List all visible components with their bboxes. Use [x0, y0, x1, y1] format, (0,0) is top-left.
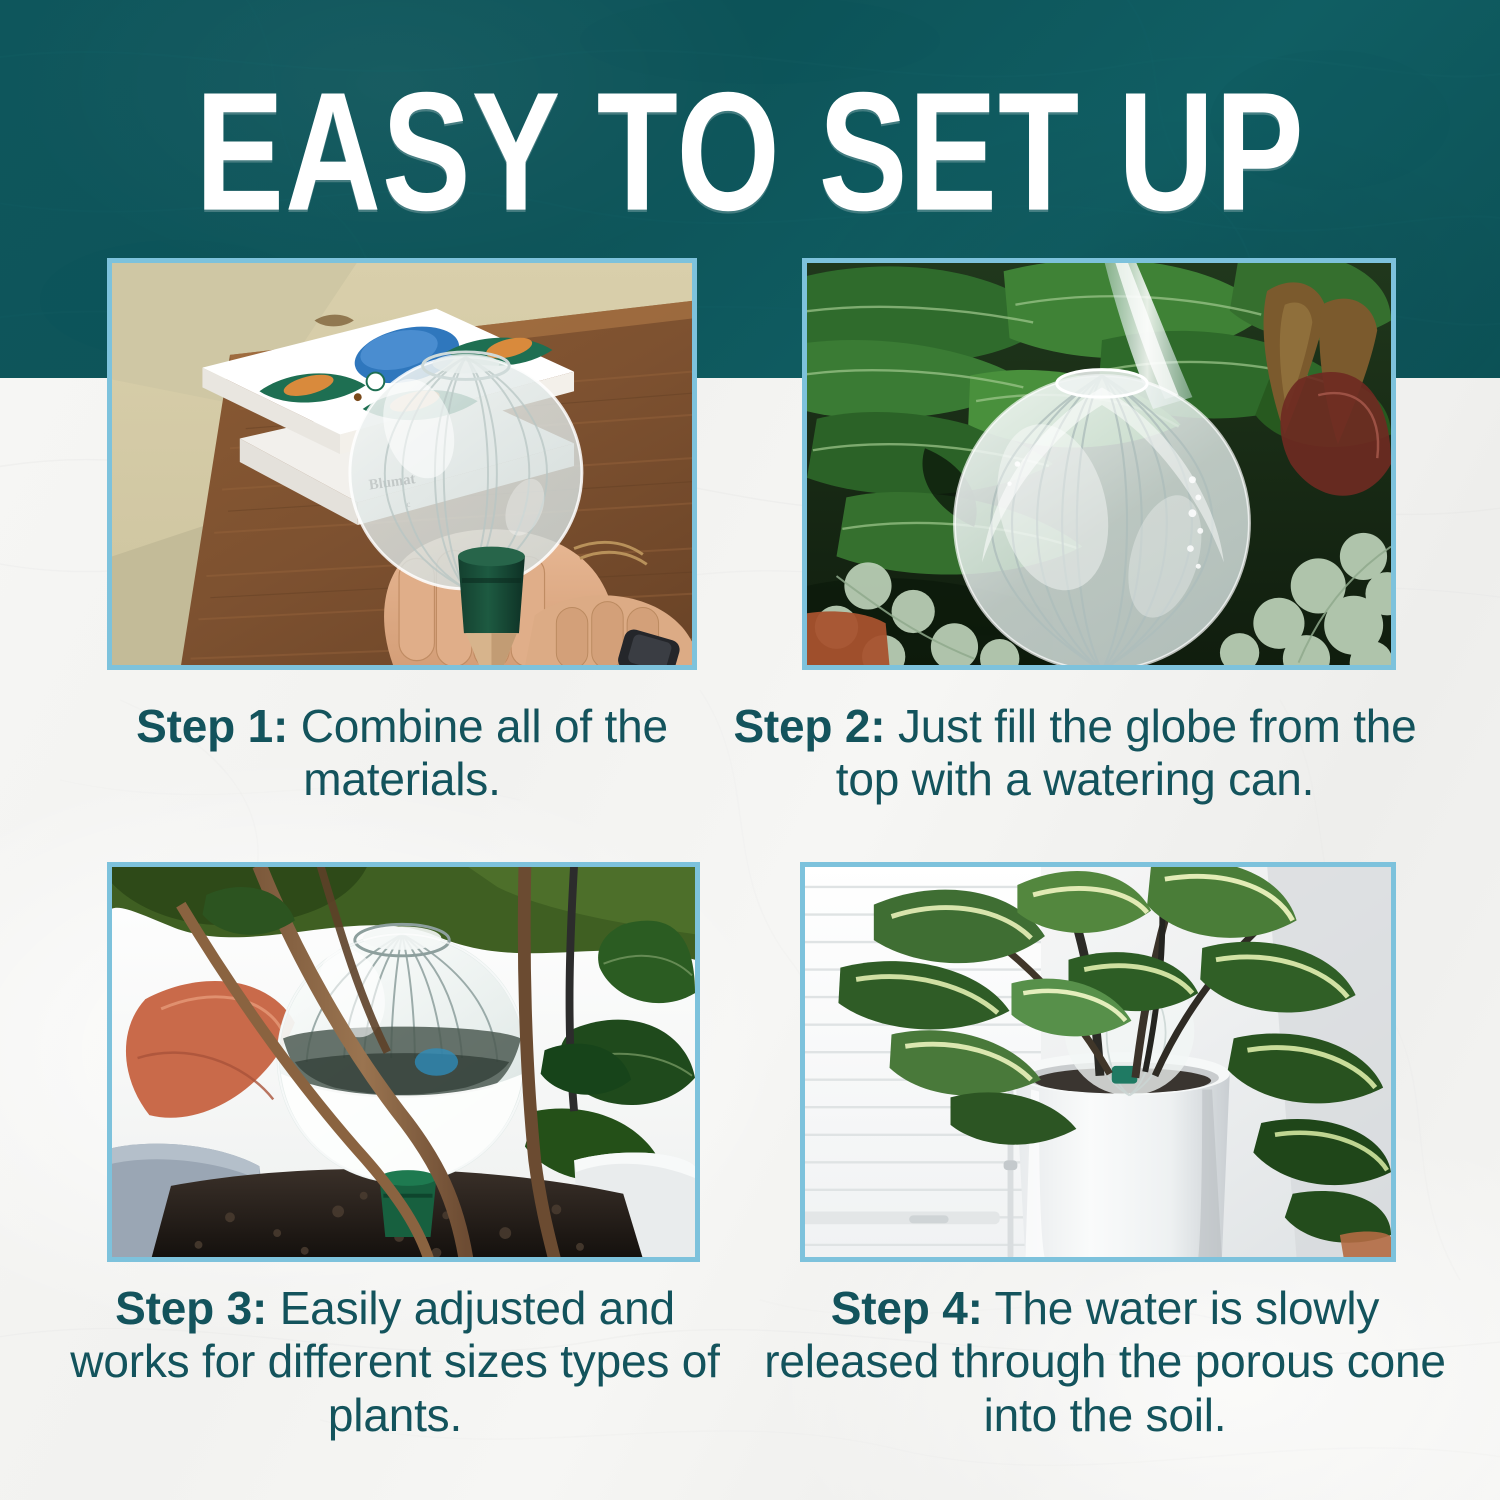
step-4-label: Step 4:: [831, 1282, 983, 1334]
step-1-body: Combine all of the materials.: [288, 700, 668, 805]
infographic-poster: EASY TO SET UP: [0, 0, 1500, 1500]
step-2-photo: [802, 258, 1396, 670]
step-3-caption: Step 3: Easily adjusted and works for di…: [50, 1282, 740, 1442]
step-1-caption: Step 1: Combine all of the materials.: [96, 700, 708, 807]
step-3-photo: [107, 862, 700, 1262]
step-3-label: Step 3:: [115, 1282, 267, 1334]
step-1-photo: Blumat c: [107, 258, 697, 670]
step-2-body: Just fill the globe from the top with a …: [836, 700, 1417, 805]
step-2-caption: Step 2: Just fill the globe from the top…: [730, 700, 1420, 807]
step-3-photo-illustration: [112, 867, 695, 1257]
step-4-photo: [800, 862, 1396, 1262]
page-title: EASY TO SET UP: [53, 68, 1448, 237]
step-4-photo-illustration: [805, 867, 1391, 1257]
step-1-label: Step 1:: [136, 700, 288, 752]
step-4-caption: Step 4: The water is slowly released thr…: [755, 1282, 1455, 1442]
step-1-photo-illustration: Blumat c: [112, 263, 692, 665]
step-2-label: Step 2:: [733, 700, 885, 752]
step-2-photo-illustration: [807, 263, 1391, 665]
